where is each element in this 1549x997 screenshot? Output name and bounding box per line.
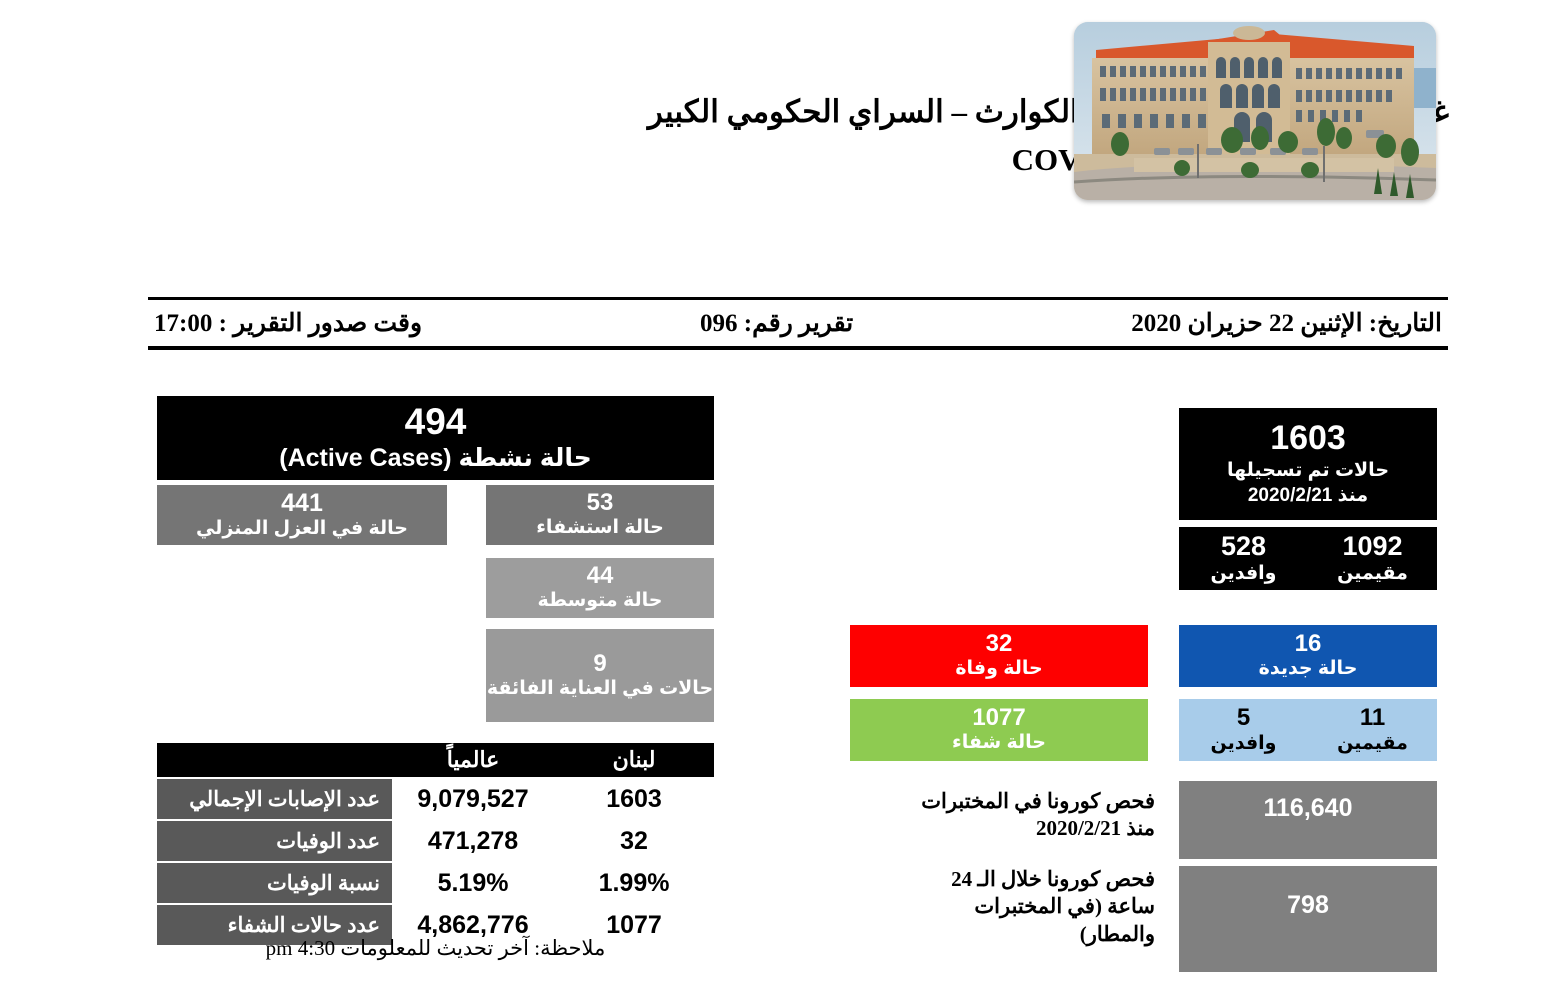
new-cases-arrivals: 5 وافدين [1179,699,1308,761]
registered-cases-value: 1603 [1270,420,1346,457]
icu-cases-value: 9 [593,651,606,677]
moderate-cases-value: 44 [587,563,614,589]
tests-total-label-line2: منذ 2020/2/21 [865,815,1155,842]
hospitalized-value: 53 [587,490,614,516]
home-isolation-label: حالة في العزل المنزلي [196,518,408,540]
cell-global: 9,079,527 [392,779,554,819]
registered-cases-label: حالات تم تسجيلها [1227,460,1389,482]
table-row: 32 471,278 عدد الوفيات [157,821,714,861]
report-number: تقرير رقم: 096 [700,308,853,338]
tests-total-label: فحص كورونا في المختبرات منذ 2020/2/21 [865,788,1155,843]
active-cases-total-value: 494 [405,402,467,442]
new-cases-residents-value: 11 [1360,705,1385,730]
registered-residents-label: مقيمين [1337,562,1408,585]
report-header: غرفة العمليات الوطنية لإدارة الكوارث – ا… [0,0,1549,250]
cell-row-label: عدد الوفيات [157,821,392,861]
grand-serail-photo [1074,22,1436,200]
tests-daily-label: فحص كورونا خلال الـ 24 ساعة (في المختبرا… [865,866,1155,948]
hospitalized-label: حالة استشفاء [536,517,664,539]
deaths-value: 32 [986,631,1013,657]
home-isolation-box: 441 حالة في العزل المنزلي [157,485,447,545]
new-cases-breakdown-box: 11 مقيمين 5 وافدين [1179,699,1437,761]
new-cases-residents-label: مقيمين [1337,732,1408,755]
new-cases-arrivals-label: وافدين [1211,732,1277,755]
deaths-box: 32 حالة وفاة [850,625,1148,687]
table-header-lebanon: لبنان [554,747,714,773]
cell-lebanon: 1603 [554,779,714,819]
new-cases-arrivals-value: 5 [1237,705,1250,730]
last-update-note: ملاحظة: آخر تحديث للمعلومات 4:30 pm [157,936,714,961]
cell-global: 5.19% [392,863,554,903]
cell-global: 471,278 [392,821,554,861]
home-isolation-value: 441 [281,490,323,517]
registered-cases-box: 1603 حالات تم تسجيلها منذ 2020/2/21 [1179,408,1437,520]
grand-serail-illustration [1074,22,1436,200]
cell-lebanon: 32 [554,821,714,861]
moderate-cases-box: 44 حالة متوسطة [486,558,714,618]
tests-total-label-line1: فحص كورونا في المختبرات [865,788,1155,815]
moderate-cases-label: حالة متوسطة [538,590,663,612]
active-cases-total-box: 494 حالة نشطة (Active Cases) [157,396,714,480]
table-row: 1603 9,079,527 عدد الإصابات الإجمالي [157,779,714,819]
recovered-value: 1077 [972,705,1025,731]
icu-cases-box: 9 حالات في العناية الفائقة [486,629,714,722]
new-cases-box: 16 حالة جديدة [1179,625,1437,687]
cell-row-label: عدد الإصابات الإجمالي [157,779,392,819]
new-cases-value: 16 [1295,631,1322,657]
new-cases-label: حالة جديدة [1259,658,1358,680]
active-cases-total-label: حالة نشطة (Active Cases) [279,444,592,474]
lebanon-global-comparison-table: لبنان عالمياً 1603 9,079,527 عدد الإصابا… [157,743,714,945]
tests-daily-box: 798 [1179,866,1437,972]
table-row: 1.99% 5.19% نسبة الوفيات [157,863,714,903]
deaths-label: حالة وفاة [955,658,1042,680]
registered-arrivals-label: وافدين [1211,562,1277,585]
recovered-label: حالة شفاء [952,732,1046,754]
icu-cases-label: حالات في العناية الفائقة [487,678,713,700]
registered-arrivals: 528 وافدين [1179,527,1308,590]
tests-daily-label-line3: والمطار) [865,921,1155,948]
registered-cases-since: منذ 2020/2/21 [1248,485,1368,507]
cell-row-label: نسبة الوفيات [157,863,392,903]
tests-total-box: 116,640 [1179,781,1437,859]
report-release-time: وقت صدور التقرير : 17:00 [154,308,422,338]
registered-residents: 1092 مقيمين [1308,527,1437,590]
registered-residents-value: 1092 [1342,532,1402,560]
tests-daily-value: 798 [1287,892,1329,919]
table-header-global: عالمياً [392,747,554,773]
new-cases-residents: 11 مقيمين [1308,699,1437,761]
date-band: التاريخ: الإثنين 22 حزيران 2020 تقرير رق… [148,297,1448,350]
recovered-box: 1077 حالة شفاء [850,699,1148,761]
tests-daily-label-line2: ساعة (في المختبرات [865,893,1155,920]
tests-daily-label-line1: فحص كورونا خلال الـ 24 [865,866,1155,893]
table-header-row: لبنان عالمياً [157,743,714,777]
hospitalized-box: 53 حالة استشفاء [486,485,714,545]
registered-arrivals-value: 528 [1221,532,1266,560]
registered-breakdown-box: 1092 مقيمين 528 وافدين [1179,527,1437,590]
tests-total-value: 116,640 [1264,795,1353,822]
cell-lebanon: 1.99% [554,863,714,903]
report-date: التاريخ: الإثنين 22 حزيران 2020 [1131,308,1442,338]
